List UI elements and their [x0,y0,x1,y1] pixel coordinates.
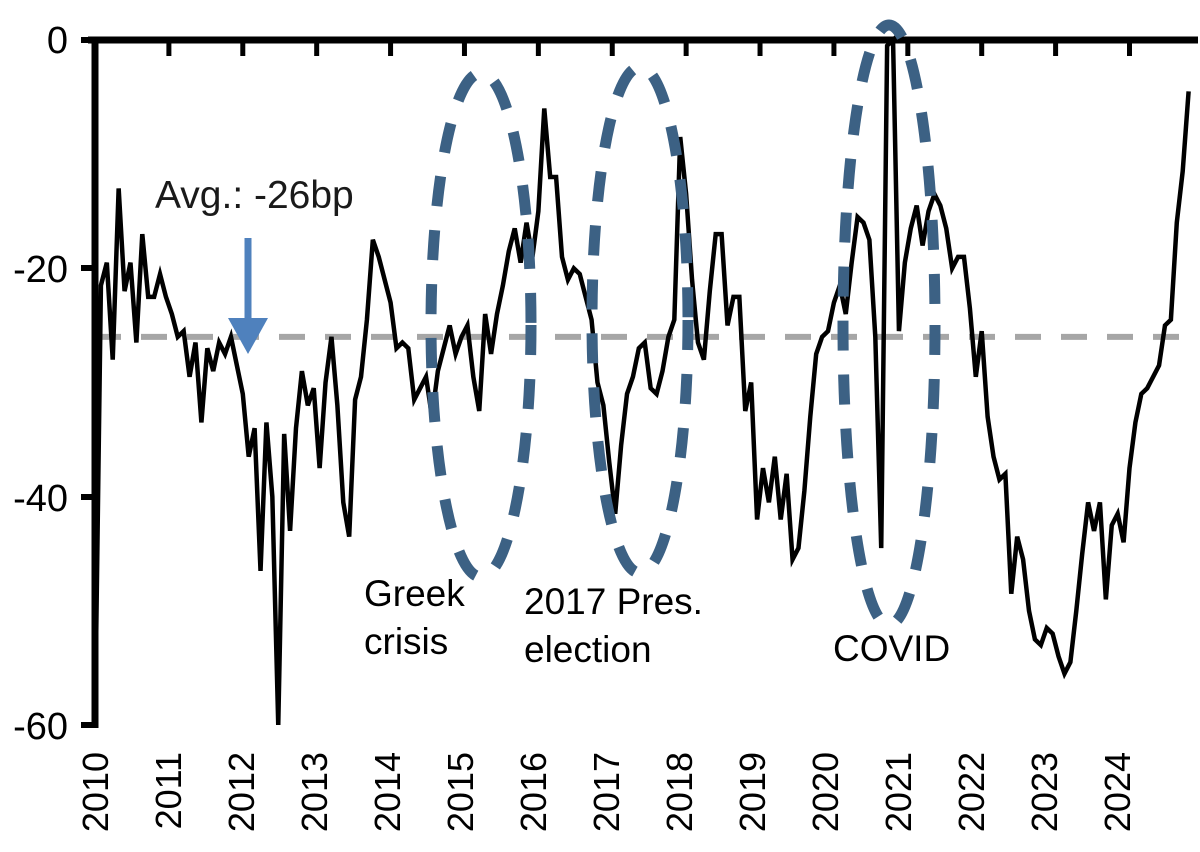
x-tick-label-2023: 2023 [1024,752,1065,832]
x-tick-label-2024: 2024 [1097,752,1138,832]
greek-crisis-label-line2: crisis [364,621,448,662]
x-tick-label-2020: 2020 [805,752,846,832]
x-tick-label-2010: 2010 [75,752,116,832]
chart-background [0,0,1200,852]
y-tick-label-0: 0 [47,20,68,62]
average-annotation-label: Avg.: -26bp [155,174,354,217]
y-tick-label-minus20: -20 [13,249,68,291]
x-tick-label-2017: 2017 [586,752,627,832]
pres-election-label-line2: election [524,629,652,670]
y-tick-label-minus60: -60 [13,706,68,748]
x-tick-label-2019: 2019 [732,752,773,832]
x-tick-label-2016: 2016 [513,752,554,832]
x-tick-label-2015: 2015 [440,752,481,832]
x-tick-label-2013: 2013 [294,752,335,832]
y-tick-label-minus40: -40 [13,478,68,520]
chart-container: 0 -20 -40 -60 2010 2011 2012 2013 2014 2… [0,0,1200,852]
x-tick-label-2011: 2011 [148,752,189,829]
greek-crisis-label-line1: Greek [364,573,465,614]
x-tick-label-2018: 2018 [659,752,700,832]
x-tick-label-2014: 2014 [367,752,408,832]
x-tick-label-2022: 2022 [951,752,992,832]
pres-election-label-line1: 2017 Pres. [524,581,703,622]
line-chart: 0 -20 -40 -60 2010 2011 2012 2013 2014 2… [0,0,1200,852]
covid-label: COVID [833,628,950,669]
x-tick-label-2021: 2021 [878,752,919,832]
x-tick-label-2012: 2012 [221,752,262,832]
